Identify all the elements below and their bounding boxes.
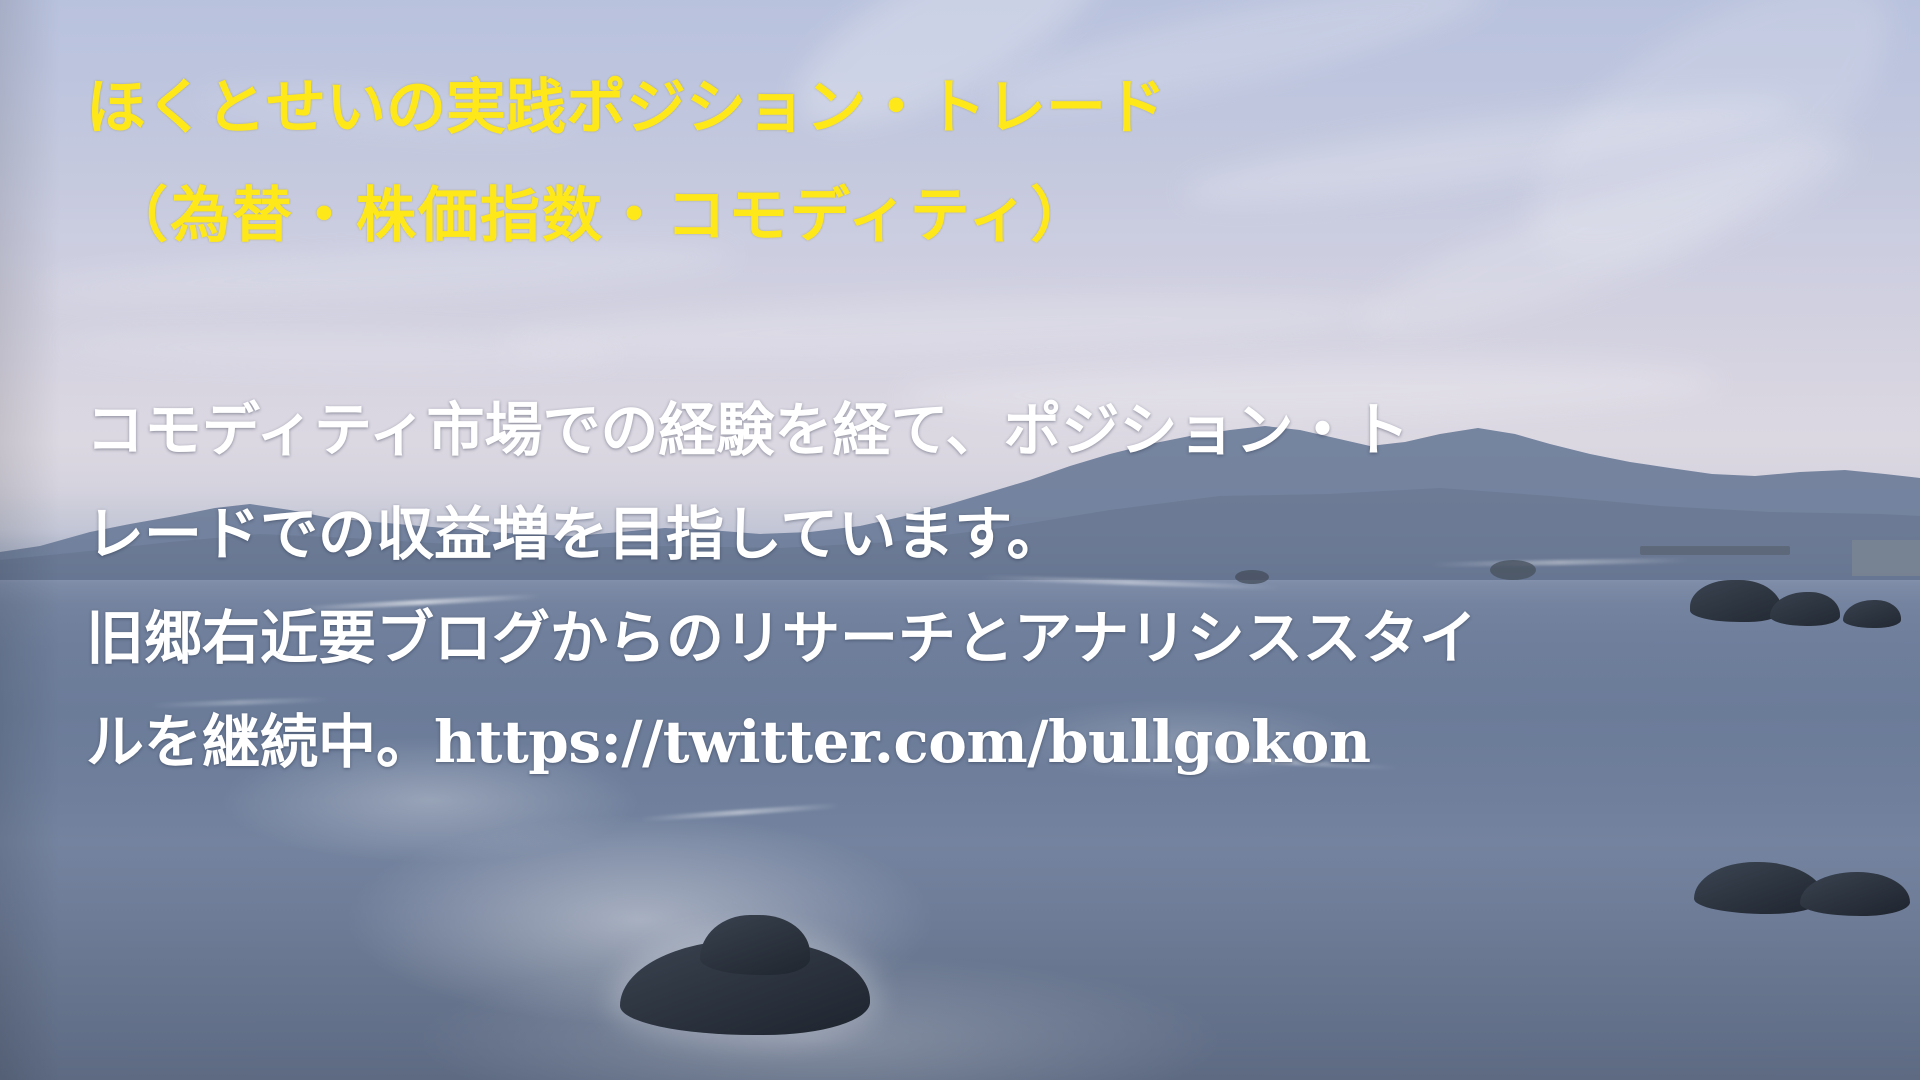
- profile-banner-image: ほくとせいの実践ポジション・トレード （為替・株価指数・コモディティ） コモディ…: [0, 0, 1920, 1080]
- title-block: ほくとせいの実践ポジション・トレード （為替・株価指数・コモディティ）: [86, 54, 1786, 270]
- twitter-profile-url[interactable]: https://twitter.com/bullgokon: [434, 708, 1371, 776]
- body-line-4-prefix: ルを継続中。: [86, 708, 434, 776]
- text-overlay: ほくとせいの実践ポジション・トレード （為替・株価指数・コモディティ） コモディ…: [0, 0, 1920, 1080]
- body-line-3: 旧郷右近要ブログからのリサーチとアナリシススタイ: [86, 586, 1846, 690]
- body-line-2: レードでの収益増を目指しています。: [86, 482, 1846, 586]
- body-block: コモディティ市場での経験を経て、ポジション・ト レードでの収益増を目指しています…: [86, 378, 1846, 794]
- title-line-1: ほくとせいの実践ポジション・トレード: [86, 54, 1786, 162]
- body-line-4: ルを継続中。https://twitter.com/bullgokon: [86, 690, 1846, 794]
- title-line-2: （為替・株価指数・コモディティ）: [108, 162, 1786, 270]
- body-line-1: コモディティ市場での経験を経て、ポジション・ト: [86, 378, 1846, 482]
